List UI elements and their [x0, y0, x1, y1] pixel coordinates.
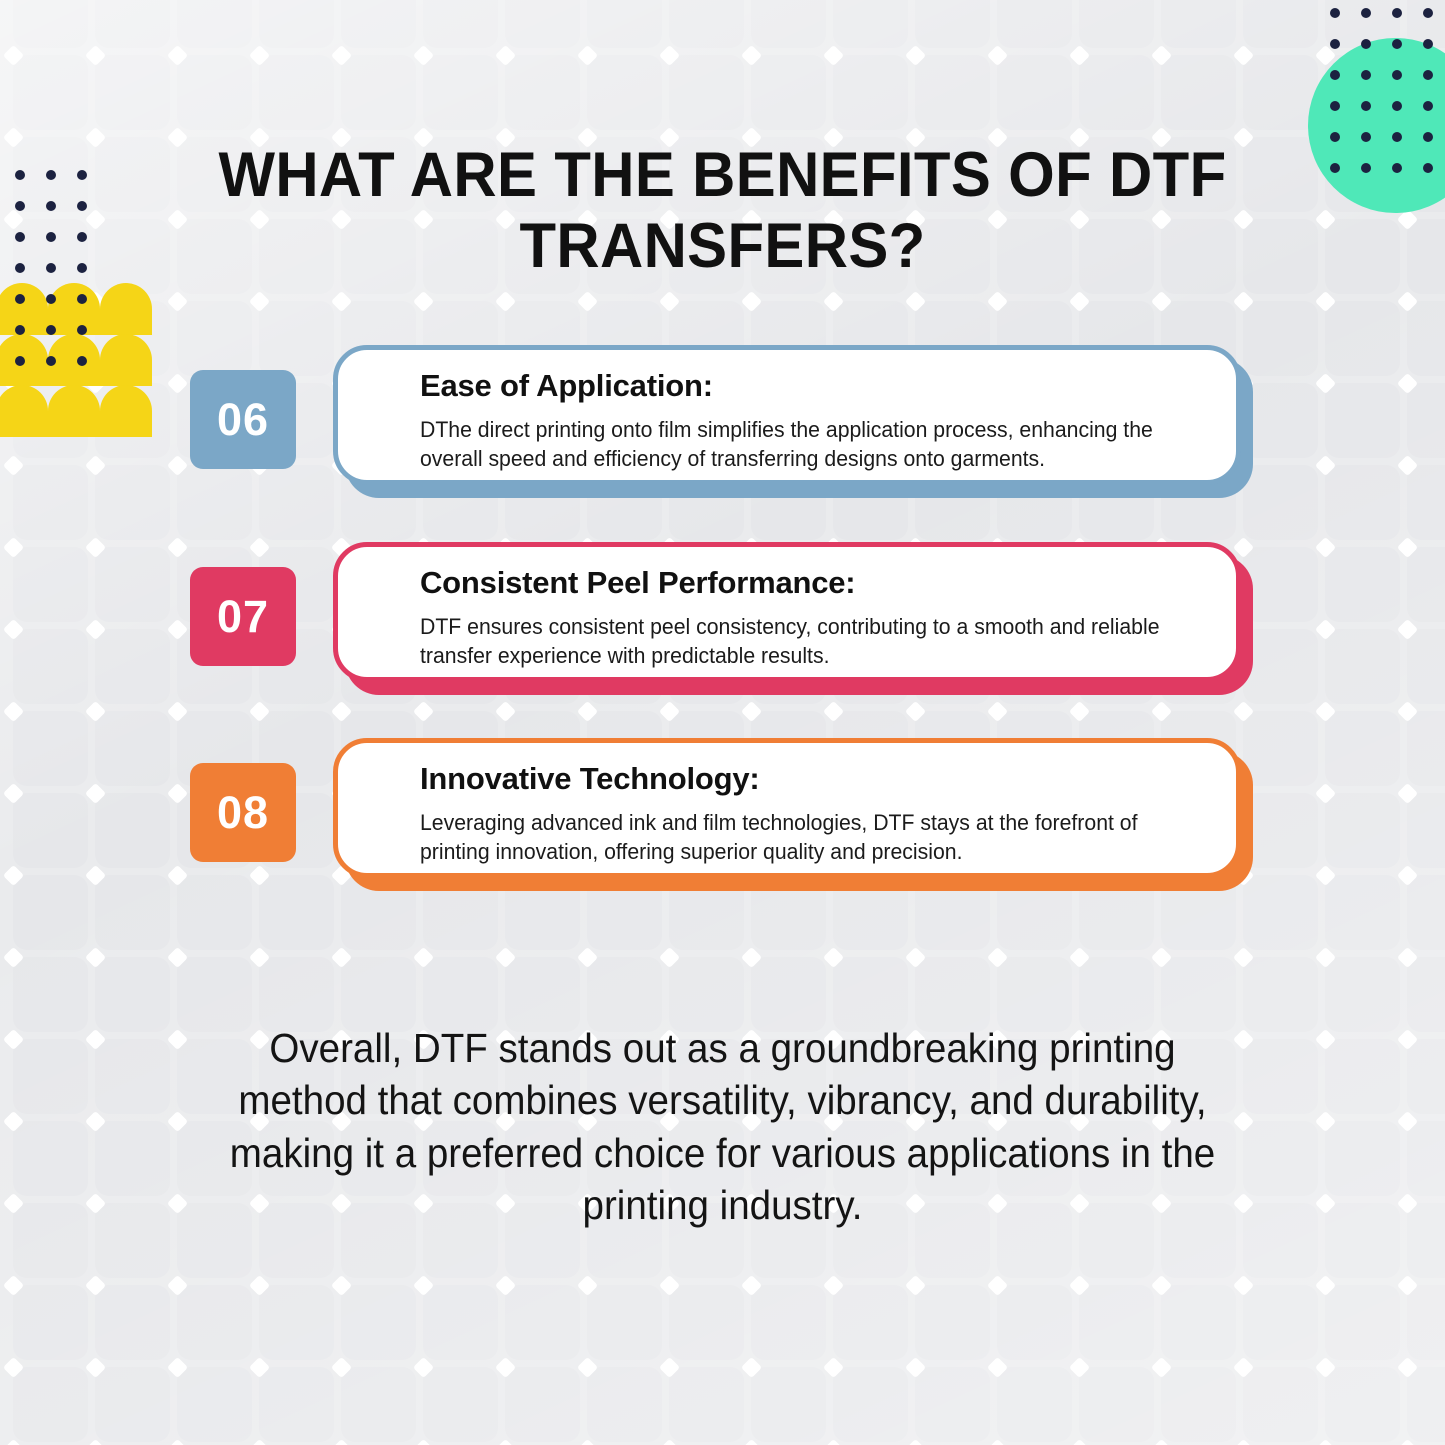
card-description: DTF ensures consistent peel consistency,…: [420, 612, 1180, 671]
card-number-label: 06: [217, 394, 269, 446]
grid-tile: [423, 55, 498, 130]
grid-tile: [751, 957, 826, 1032]
decor-dot: [46, 263, 56, 273]
decor-dot: [1330, 163, 1340, 173]
grid-tile: [177, 301, 252, 376]
grid-tile: [505, 1285, 580, 1360]
decor-dot: [1423, 163, 1433, 173]
grid-tile: [669, 0, 744, 48]
decor-dot: [1423, 39, 1433, 49]
card-number-label: 08: [217, 787, 269, 839]
decor-dot: [46, 232, 56, 242]
grid-tile: [1325, 1367, 1400, 1442]
grid-tile: [751, 55, 826, 130]
grid-tile: [997, 1367, 1072, 1442]
grid-tile: [95, 219, 170, 294]
grid-tile: [95, 1203, 170, 1278]
grid-tile: [505, 55, 580, 130]
grid-tile: [95, 1039, 170, 1114]
decor-dot: [1423, 101, 1433, 111]
grid-tile: [13, 1367, 88, 1442]
grid-tile: [751, 1285, 826, 1360]
decor-dot: [1361, 70, 1371, 80]
grid-tile: [259, 1367, 334, 1442]
grid-tile: [423, 1367, 498, 1442]
decor-dot: [46, 170, 56, 180]
grid-tile: [1243, 1039, 1318, 1114]
card-title: Ease of Application:: [420, 368, 1208, 404]
grid-tile: [997, 0, 1072, 48]
grid-tile: [669, 1285, 744, 1360]
grid-tile: [669, 55, 744, 130]
decor-dot: [15, 294, 25, 304]
grid-tile: [505, 957, 580, 1032]
footer-summary-text: Overall, DTF stands out as a groundbreak…: [208, 1022, 1237, 1232]
decor-dot: [1330, 8, 1340, 18]
grid-tile: [915, 55, 990, 130]
decor-dot: [77, 232, 87, 242]
decor-dot: [77, 294, 87, 304]
page-title: WHAT ARE THE BENEFITS OF DTF TRANSFERS?: [198, 140, 1248, 281]
card-number-badge: 08: [190, 763, 296, 862]
grid-tile: [1161, 1285, 1236, 1360]
card-description: Leveraging advanced ink and film technol…: [420, 808, 1180, 867]
grid-tile: [13, 0, 88, 48]
decor-dot: [77, 263, 87, 273]
grid-tile: [95, 0, 170, 48]
grid-tile: [915, 1285, 990, 1360]
grid-tile: [1161, 55, 1236, 130]
grid-tile: [587, 957, 662, 1032]
grid-tile: [341, 1367, 416, 1442]
grid-tile: [13, 1203, 88, 1278]
grid-tile: [1407, 1203, 1445, 1278]
benefit-card[interactable]: 08Innovative Technology:Leveraging advan…: [0, 763, 1445, 938]
decor-dot: [1392, 101, 1402, 111]
grid-tile: [1243, 301, 1318, 376]
grid-tile: [259, 301, 334, 376]
decor-semicircle: [100, 283, 152, 335]
grid-tile: [1079, 957, 1154, 1032]
grid-tile: [1243, 219, 1318, 294]
grid-tile: [915, 1367, 990, 1442]
decor-dot: [1361, 132, 1371, 142]
card-body-panel[interactable]: Ease of Application:DThe direct printing…: [333, 345, 1241, 485]
grid-tile: [587, 0, 662, 48]
grid-tile: [669, 957, 744, 1032]
grid-tile: [997, 957, 1072, 1032]
decor-dot: [77, 356, 87, 366]
grid-tile: [1325, 1203, 1400, 1278]
grid-tile: [1243, 1285, 1318, 1360]
grid-tile: [423, 957, 498, 1032]
grid-tile: [259, 55, 334, 130]
grid-tile: [177, 1367, 252, 1442]
grid-tile: [587, 1285, 662, 1360]
grid-tile: [1079, 0, 1154, 48]
decor-dot: [46, 356, 56, 366]
card-number-badge: 06: [190, 370, 296, 469]
grid-tile: [587, 55, 662, 130]
grid-tile: [1407, 1367, 1445, 1442]
card-description: DThe direct printing onto film simplifie…: [420, 415, 1180, 474]
grid-tile: [259, 1285, 334, 1360]
decor-dot: [1361, 39, 1371, 49]
decor-dot: [15, 356, 25, 366]
grid-tile: [1161, 0, 1236, 48]
grid-tile: [997, 55, 1072, 130]
grid-tile: [1243, 55, 1318, 130]
decor-dot: [1330, 132, 1340, 142]
grid-tile: [1407, 219, 1445, 294]
grid-tile: [1161, 957, 1236, 1032]
grid-tile: [1079, 1285, 1154, 1360]
grid-tile: [1325, 1039, 1400, 1114]
grid-tile: [1243, 957, 1318, 1032]
grid-tile: [95, 55, 170, 130]
grid-tile: [505, 1367, 580, 1442]
grid-tile: [95, 1285, 170, 1360]
grid-tile: [95, 1367, 170, 1442]
decor-dot: [46, 201, 56, 211]
card-title: Consistent Peel Performance:: [420, 565, 1208, 601]
grid-tile: [997, 1285, 1072, 1360]
card-body-panel[interactable]: Innovative Technology:Leveraging advance…: [333, 738, 1241, 878]
grid-tile: [1407, 1285, 1445, 1360]
decor-dot: [1423, 70, 1433, 80]
grid-tile: [1243, 0, 1318, 48]
grid-tile: [833, 1285, 908, 1360]
decor-dot: [1392, 39, 1402, 49]
grid-tile: [259, 0, 334, 48]
card-body-panel[interactable]: Consistent Peel Performance:DTF ensures …: [333, 542, 1241, 682]
decor-dot: [15, 170, 25, 180]
decor-dot: [15, 201, 25, 211]
decor-dot: [46, 325, 56, 335]
grid-tile: [1161, 1367, 1236, 1442]
grid-tile: [341, 957, 416, 1032]
grid-tile: [341, 0, 416, 48]
decor-dot: [77, 170, 87, 180]
grid-tile: [1243, 1367, 1318, 1442]
decor-dot: [1330, 39, 1340, 49]
grid-tile: [1407, 957, 1445, 1032]
decor-dot: [77, 201, 87, 211]
decor-semicircle: [48, 283, 100, 335]
decor-dot: [1330, 101, 1340, 111]
grid-tile: [833, 1367, 908, 1442]
grid-tile: [833, 957, 908, 1032]
grid-tile: [751, 0, 826, 48]
decor-dot: [1392, 132, 1402, 142]
decor-dot: [1361, 101, 1371, 111]
decor-dot: [1392, 70, 1402, 80]
grid-tile: [259, 957, 334, 1032]
decor-dot: [1423, 132, 1433, 142]
grid-tile: [1243, 1203, 1318, 1278]
decor-dot: [1423, 8, 1433, 18]
benefit-card[interactable]: 06Ease of Application:DThe direct printi…: [0, 370, 1445, 545]
grid-tile: [423, 1285, 498, 1360]
decor-dot: [15, 232, 25, 242]
decor-dot: [1392, 163, 1402, 173]
grid-tile: [1079, 1367, 1154, 1442]
grid-tile: [1325, 957, 1400, 1032]
grid-tile: [177, 1285, 252, 1360]
grid-tile: [177, 957, 252, 1032]
decor-dot: [15, 325, 25, 335]
decor-dot: [1330, 70, 1340, 80]
decor-dot: [15, 263, 25, 273]
grid-tile: [833, 55, 908, 130]
grid-tile: [341, 55, 416, 130]
grid-tile: [1243, 1121, 1318, 1196]
grid-tile: [915, 0, 990, 48]
decor-dot: [1361, 163, 1371, 173]
benefit-card[interactable]: 07Consistent Peel Performance:DTF ensure…: [0, 567, 1445, 742]
grid-tile: [95, 957, 170, 1032]
grid-tile: [95, 137, 170, 212]
grid-tile: [177, 55, 252, 130]
grid-tile: [1325, 219, 1400, 294]
grid-tile: [751, 1367, 826, 1442]
grid-tile: [1407, 1039, 1445, 1114]
decor-dot: [1392, 8, 1402, 18]
decor-dot: [46, 294, 56, 304]
grid-tile: [1325, 1121, 1400, 1196]
infographic-canvas: WHAT ARE THE BENEFITS OF DTF TRANSFERS? …: [0, 0, 1445, 1445]
decor-dot: [1361, 8, 1371, 18]
grid-tile: [505, 0, 580, 48]
card-number-label: 07: [217, 591, 269, 643]
grid-tile: [13, 1121, 88, 1196]
grid-tile: [423, 0, 498, 48]
grid-tile: [13, 1285, 88, 1360]
grid-tile: [669, 1367, 744, 1442]
grid-tile: [1325, 1285, 1400, 1360]
card-number-badge: 07: [190, 567, 296, 666]
grid-tile: [833, 0, 908, 48]
grid-tile: [1407, 1121, 1445, 1196]
grid-tile: [1407, 301, 1445, 376]
grid-tile: [95, 1121, 170, 1196]
grid-tile: [1243, 137, 1318, 212]
grid-tile: [587, 1367, 662, 1442]
grid-tile: [13, 55, 88, 130]
decor-dot: [77, 325, 87, 335]
grid-tile: [13, 1039, 88, 1114]
grid-tile: [1325, 301, 1400, 376]
card-title: Innovative Technology:: [420, 761, 1208, 797]
grid-tile: [341, 1285, 416, 1360]
grid-tile: [1079, 55, 1154, 130]
grid-tile: [177, 0, 252, 48]
grid-tile: [915, 957, 990, 1032]
grid-tile: [13, 957, 88, 1032]
